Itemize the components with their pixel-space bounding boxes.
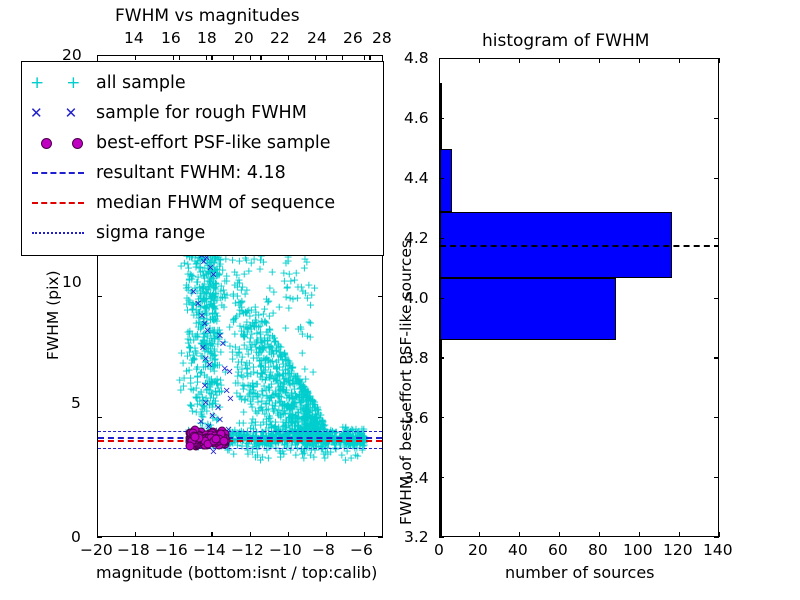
- scatter-point-all: +: [256, 328, 265, 339]
- scatter-point-all: +: [276, 452, 285, 463]
- scatter-point-all: +: [212, 316, 221, 327]
- scatter-point-all: +: [304, 408, 313, 419]
- scatter-point-all: +: [200, 346, 209, 357]
- scatter-point-all: +: [256, 327, 265, 338]
- scatter-point-all: +: [293, 413, 302, 424]
- left-xtick-mark-1: [135, 532, 136, 537]
- scatter-point-all: +: [310, 420, 319, 431]
- scatter-point-all: +: [278, 406, 287, 417]
- scatter-point-all: +: [295, 392, 304, 403]
- scatter-point-all: +: [281, 387, 290, 398]
- scatter-point-all: +: [203, 378, 212, 389]
- scatter-point-all: +: [202, 269, 211, 280]
- histogram-bar: [440, 278, 616, 341]
- scatter-point-all: +: [336, 434, 345, 445]
- scatter-point-all: +: [283, 256, 292, 267]
- scatter-point-all: +: [296, 389, 305, 400]
- scatter-point-all: +: [234, 274, 243, 285]
- scatter-point-all: +: [341, 423, 350, 434]
- scatter-point-all: +: [289, 396, 298, 407]
- scatter-point-all: +: [304, 406, 313, 417]
- scatter-point-all: +: [257, 338, 266, 349]
- scatter-point-all: +: [284, 419, 293, 430]
- scatter-point-all: +: [211, 398, 220, 409]
- scatter-point-all: +: [264, 355, 273, 366]
- scatter-point-all: +: [233, 378, 242, 389]
- scatter-point-all: +: [255, 356, 264, 367]
- figure-canvas: FWHM vs magnitudes 14 16 18 20 22 24 26 …: [0, 0, 800, 600]
- scatter-point-all: +: [197, 411, 206, 422]
- scatter-point-all: +: [288, 378, 297, 389]
- scatter-point-all: +: [270, 403, 279, 414]
- scatter-point-all: +: [202, 287, 211, 298]
- scatter-point-all: +: [251, 420, 260, 431]
- scatter-point-all: +: [353, 427, 362, 438]
- scatter-point-all: +: [246, 341, 255, 352]
- scatter-point-all: +: [206, 364, 215, 375]
- scatter-point-all: +: [279, 449, 288, 460]
- median-fwhm-line: [98, 440, 382, 442]
- left-xtick-mark-top-1: [135, 55, 136, 60]
- scatter-point-all: +: [284, 393, 293, 404]
- scatter-point-all: +: [213, 268, 222, 279]
- scatter-point-all: +: [285, 377, 294, 388]
- scatter-point-all: +: [215, 260, 224, 271]
- scatter-point-all: +: [299, 453, 308, 464]
- scatter-point-all: +: [295, 390, 304, 401]
- legend-item-all-sample[interactable]: ++ all sample: [22, 68, 383, 98]
- scatter-point-all: +: [318, 423, 327, 434]
- scatter-point-all: +: [306, 413, 315, 424]
- scatter-point-all: +: [311, 413, 320, 424]
- scatter-point-all: +: [271, 385, 280, 396]
- scatter-point-all: +: [252, 317, 261, 328]
- scatter-point-all: +: [210, 324, 219, 335]
- scatter-point-all: +: [297, 379, 306, 390]
- scatter-point-all: +: [258, 452, 267, 463]
- scatter-point-all: +: [261, 316, 270, 327]
- scatter-point-all: +: [208, 324, 217, 335]
- scatter-point-all: +: [209, 330, 218, 341]
- scatter-point-all: +: [240, 288, 249, 299]
- scatter-point-all: +: [253, 449, 262, 460]
- scatter-point-all: +: [307, 445, 316, 456]
- scatter-point-all: +: [203, 360, 212, 371]
- scatter-point-all: +: [208, 308, 217, 319]
- scatter-point-all: +: [208, 290, 217, 301]
- scatter-point-all: +: [204, 282, 213, 293]
- scatter-point-all: +: [234, 367, 243, 378]
- scatter-point-all: +: [245, 358, 254, 369]
- scatter-point-all: +: [210, 376, 219, 387]
- scatter-point-all: +: [209, 309, 218, 320]
- scatter-point-all: +: [203, 384, 212, 395]
- scatter-point-all: +: [270, 336, 279, 347]
- scatter-point-all: +: [210, 345, 219, 356]
- scatter-point-all: +: [185, 296, 194, 307]
- scatter-point-all: +: [310, 400, 319, 411]
- scatter-point-all: +: [208, 402, 217, 413]
- scatter-point-all: +: [268, 266, 277, 277]
- scatter-point-all: +: [211, 281, 220, 292]
- scatter-point-all: +: [321, 434, 330, 445]
- scatter-point-all: +: [276, 426, 285, 437]
- scatter-point-all: +: [249, 385, 258, 396]
- scatter-point-all: +: [188, 270, 197, 281]
- scatter-point-all: +: [185, 342, 194, 353]
- scatter-point-all: +: [273, 338, 282, 349]
- hist-xtick-mark-top-5: [639, 58, 640, 63]
- scatter-point-all: +: [247, 257, 256, 268]
- scatter-point-all: +: [202, 331, 211, 342]
- top-xtick-20: 20: [234, 29, 254, 47]
- scatter-point-all: +: [253, 388, 262, 399]
- scatter-point-all: +: [205, 281, 214, 292]
- scatter-point-all: +: [287, 401, 296, 412]
- legend-item-sigma-range[interactable]: sigma range: [22, 218, 383, 248]
- scatter-point-all: +: [275, 395, 284, 406]
- scatter-point-all: +: [285, 359, 294, 370]
- scatter-point-all: +: [285, 417, 294, 428]
- scatter-point-all: +: [271, 375, 280, 386]
- scatter-point-all: +: [220, 293, 229, 304]
- scatter-point-all: +: [275, 391, 284, 402]
- scatter-point-all: +: [211, 376, 220, 387]
- scatter-point-all: +: [300, 419, 309, 430]
- scatter-point-all: +: [337, 449, 346, 460]
- scatter-point-all: +: [182, 280, 191, 291]
- scatter-point-all: +: [303, 393, 312, 404]
- hist-ytick-mark-7: [439, 118, 444, 119]
- scatter-point-all: +: [257, 367, 266, 378]
- scatter-point-all: +: [297, 414, 306, 425]
- scatter-point-all: +: [270, 373, 279, 384]
- scatter-point-all: +: [266, 367, 275, 378]
- scatter-point-all: +: [258, 405, 267, 416]
- scatter-point-all: +: [254, 310, 263, 321]
- scatter-point-all: +: [202, 371, 211, 382]
- scatter-point-all: +: [263, 334, 272, 345]
- left-xtick-n12: −12: [231, 541, 264, 559]
- scatter-point-all: +: [246, 381, 255, 392]
- scatter-point-all: +: [232, 388, 241, 399]
- scatter-point-all: +: [233, 277, 242, 288]
- scatter-point-all: +: [246, 332, 255, 343]
- scatter-point-all: +: [206, 267, 215, 278]
- scatter-point-all: +: [202, 338, 211, 349]
- scatter-point-all: +: [202, 304, 211, 315]
- scatter-point-all: +: [289, 376, 298, 387]
- scatter-point-all: +: [291, 371, 300, 382]
- hist-xtick-mark-6: [679, 532, 680, 537]
- hist-ytick-mark-3: [439, 357, 444, 358]
- scatter-point-all: +: [185, 328, 194, 339]
- scatter-point-all: +: [209, 298, 218, 309]
- scatter-point-rough: ×: [203, 325, 211, 336]
- hist-xtick-mark-1: [479, 532, 480, 537]
- scatter-point-all: +: [183, 285, 192, 296]
- scatter-point-all: +: [293, 424, 302, 435]
- scatter-point-all: +: [287, 401, 296, 412]
- scatter-point-all: +: [190, 256, 199, 267]
- scatter-point-all: +: [237, 393, 246, 404]
- scatter-point-all: +: [265, 410, 274, 421]
- histogram-plot-area[interactable]: [439, 58, 719, 537]
- scatter-point-all: +: [303, 413, 312, 424]
- scatter-point-all: +: [294, 373, 303, 384]
- scatter-point-all: +: [239, 329, 248, 340]
- scatter-point-all: +: [285, 361, 294, 372]
- scatter-point-all: +: [202, 257, 211, 268]
- scatter-point-all: +: [240, 269, 249, 280]
- scatter-point-all: +: [280, 398, 289, 409]
- scatter-point-all: +: [252, 328, 261, 339]
- scatter-point-all: +: [307, 420, 316, 431]
- scatter-point-all: +: [275, 446, 284, 457]
- scatter-point-all: +: [304, 403, 313, 414]
- scatter-point-all: +: [285, 292, 294, 303]
- scatter-point-all: +: [207, 378, 216, 389]
- scatter-point-all: +: [292, 413, 301, 424]
- scatter-point-all: +: [254, 406, 263, 417]
- scatter-point-all: +: [249, 361, 258, 372]
- scatter-point-all: +: [188, 354, 197, 365]
- left-ytick-mark-right-2: [378, 296, 383, 297]
- scatter-point-all: +: [275, 377, 284, 388]
- hist-xtick-mark-4: [599, 532, 600, 537]
- scatter-point-all: +: [206, 294, 215, 305]
- scatter-point-all: +: [283, 282, 292, 293]
- left-ytick-mark-right-1: [378, 417, 383, 418]
- scatter-point-all: +: [210, 395, 219, 406]
- scatter-point-all: +: [210, 360, 219, 371]
- scatter-point-all: +: [257, 401, 266, 412]
- hist-ytick-4.2: 4.2: [404, 229, 429, 247]
- scatter-point-all: +: [212, 390, 221, 401]
- scatter-point-all: +: [357, 423, 366, 434]
- scatter-point-all: +: [198, 403, 207, 414]
- scatter-point-all: +: [306, 395, 315, 406]
- scatter-point-all: +: [279, 409, 288, 420]
- scatter-point-all: +: [268, 404, 277, 415]
- scatter-point-all: +: [210, 333, 219, 344]
- scatter-point-all: +: [222, 275, 231, 286]
- scatter-point-all: +: [265, 311, 274, 322]
- scatter-point-all: +: [297, 387, 306, 398]
- scatter-point-all: +: [310, 399, 319, 410]
- hist-xtick-120: 120: [663, 541, 693, 559]
- scatter-point-all: +: [204, 266, 213, 277]
- scatter-point-all: +: [202, 385, 211, 396]
- scatter-point-all: +: [287, 399, 296, 410]
- scatter-point-all: +: [268, 344, 277, 355]
- scatter-point-all: +: [284, 303, 293, 314]
- scatter-point-all: +: [290, 417, 299, 428]
- scatter-point-all: +: [238, 379, 247, 390]
- scatter-point-all: +: [234, 357, 243, 368]
- scatter-point-all: +: [263, 338, 272, 349]
- scatter-point-all: +: [311, 418, 320, 429]
- scatter-point-all: +: [202, 301, 211, 312]
- scatter-point-all: +: [239, 426, 248, 437]
- scatter-point-all: +: [292, 375, 301, 386]
- dashed-line-icon: [22, 158, 96, 188]
- histogram-bar: [440, 340, 442, 406]
- scatter-point-all: +: [265, 396, 274, 407]
- scatter-point-all: +: [213, 339, 222, 350]
- scatter-point-all: +: [267, 392, 276, 403]
- scatter-point-all: +: [273, 391, 282, 402]
- scatter-point-all: +: [268, 308, 277, 319]
- scatter-point-all: +: [261, 342, 270, 353]
- scatter-point-all: +: [244, 348, 253, 359]
- scatter-point-all: +: [283, 368, 292, 379]
- scatter-point-all: +: [251, 451, 260, 462]
- scatter-point-all: +: [211, 288, 220, 299]
- scatter-point-all: +: [205, 381, 214, 392]
- scatter-point-all: +: [277, 392, 286, 403]
- scatter-point-all: +: [318, 442, 327, 453]
- left-ytick-mark-0: [97, 537, 102, 538]
- scatter-point-all: +: [275, 361, 284, 372]
- scatter-point-all: +: [199, 282, 208, 293]
- histogram-bar: [440, 83, 442, 149]
- scatter-point-all: +: [284, 356, 293, 367]
- scatter-point-all: +: [195, 290, 204, 301]
- scatter-point-all: +: [286, 412, 295, 423]
- scatter-point-all: +: [210, 315, 219, 326]
- scatter-point-all: +: [208, 261, 217, 272]
- scatter-point-all: +: [274, 341, 283, 352]
- scatter-point-all: +: [192, 286, 201, 297]
- scatter-point-all: +: [285, 426, 294, 437]
- hist-xtick-mark-top-6: [679, 58, 680, 63]
- legend-box[interactable]: ++ all sample ✕✕ sample for rough FWHM b…: [21, 61, 384, 256]
- scatter-point-all: +: [248, 413, 257, 424]
- scatter-point-all: +: [256, 361, 265, 372]
- legend-item-psf-sample[interactable]: best-effort PSF-like sample: [22, 128, 383, 158]
- scatter-point-all: +: [274, 427, 283, 438]
- scatter-point-all: +: [198, 319, 207, 330]
- scatter-point-all: +: [273, 375, 282, 386]
- scatter-point-all: +: [259, 416, 268, 427]
- scatter-point-all: +: [312, 409, 321, 420]
- scatter-point-all: +: [302, 419, 311, 430]
- scatter-point-all: +: [249, 366, 258, 377]
- scatter-point-all: +: [314, 442, 323, 453]
- scatter-point-all: +: [262, 318, 271, 329]
- sigma-lower-line: [98, 448, 382, 449]
- scatter-point-all: +: [206, 339, 215, 350]
- scatter-point-all: +: [235, 304, 244, 315]
- scatter-point-all: +: [199, 400, 208, 411]
- scatter-point-all: +: [205, 323, 214, 334]
- scatter-point-all: +: [297, 391, 306, 402]
- scatter-point-all: +: [235, 309, 244, 320]
- scatter-point-all: +: [264, 383, 273, 394]
- scatter-point-all: +: [260, 408, 269, 419]
- scatter-point-all: +: [284, 375, 293, 386]
- scatter-point-all: +: [271, 438, 280, 449]
- scatter-point-all: +: [302, 399, 311, 410]
- scatter-point-all: +: [265, 324, 274, 335]
- scatter-point-all: +: [192, 348, 201, 359]
- scatter-point-all: +: [203, 395, 212, 406]
- scatter-point-all: +: [296, 323, 305, 334]
- scatter-point-all: +: [281, 352, 290, 363]
- scatter-point-all: +: [275, 371, 284, 382]
- scatter-point-all: +: [208, 362, 217, 373]
- hist-xtick-60: 60: [548, 541, 568, 559]
- scatter-point-all: +: [269, 374, 278, 385]
- scatter-point-all: +: [278, 399, 287, 410]
- scatter-point-all: +: [294, 375, 303, 386]
- scatter-point-all: +: [191, 346, 200, 357]
- legend-item-rough-fwhm[interactable]: ✕✕ sample for rough FWHM: [22, 98, 383, 128]
- scatter-point-all: +: [287, 388, 296, 399]
- scatter-point-all: +: [263, 327, 272, 338]
- hist-ytick-mark-right-6: [714, 178, 719, 179]
- scatter-point-all: +: [183, 259, 192, 270]
- left-xtick-n20: −20: [80, 541, 113, 559]
- scatter-point-all: +: [257, 427, 266, 438]
- scatter-point-all: +: [282, 283, 291, 294]
- scatter-point-all: +: [314, 405, 323, 416]
- scatter-point-all: +: [263, 392, 272, 403]
- scatter-point-all: +: [265, 384, 274, 395]
- scatter-point-all: +: [301, 404, 310, 415]
- scatter-point-all: +: [207, 338, 216, 349]
- scatter-point-all: +: [304, 412, 313, 423]
- scatter-point-all: +: [254, 348, 263, 359]
- scatter-point-all: +: [315, 427, 324, 438]
- scatter-point-all: +: [313, 404, 322, 415]
- scatter-point-all: +: [276, 412, 285, 423]
- scatter-point-all: +: [308, 413, 317, 424]
- scatter-point-all: +: [296, 404, 305, 415]
- scatter-point-all: +: [236, 434, 245, 445]
- scatter-point-all: +: [303, 407, 312, 418]
- scatter-point-all: +: [202, 309, 211, 320]
- scatter-point-all: +: [189, 384, 198, 395]
- scatter-point-all: +: [201, 293, 210, 304]
- scatter-point-all: +: [193, 372, 202, 383]
- scatter-point-all: +: [271, 397, 280, 408]
- scatter-point-all: +: [297, 400, 306, 411]
- scatter-point-all: +: [199, 313, 208, 324]
- scatter-point-all: +: [208, 311, 217, 322]
- top-xtick-mark-7: [369, 55, 370, 60]
- scatter-point-all: +: [211, 360, 220, 371]
- scatter-point-all: +: [347, 424, 356, 435]
- scatter-point-all: +: [208, 349, 217, 360]
- scatter-point-all: +: [288, 400, 297, 411]
- scatter-point-all: +: [287, 394, 296, 405]
- scatter-point-all: +: [207, 292, 216, 303]
- hist-xtick-100: 100: [623, 541, 653, 559]
- scatter-point-all: +: [261, 434, 270, 445]
- scatter-point-all: +: [198, 350, 207, 361]
- legend-item-resultant-fwhm[interactable]: resultant FWHM: 4.18: [22, 158, 383, 188]
- legend-item-median-fwhm[interactable]: median FHWM of sequence: [22, 188, 383, 218]
- scatter-point-all: +: [281, 372, 290, 383]
- scatter-point-all: +: [206, 328, 215, 339]
- scatter-point-all: +: [301, 374, 310, 385]
- scatter-point-all: +: [261, 374, 270, 385]
- scatter-point-all: +: [256, 336, 265, 347]
- scatter-point-all: +: [353, 451, 362, 462]
- scatter-point-all: +: [258, 343, 267, 354]
